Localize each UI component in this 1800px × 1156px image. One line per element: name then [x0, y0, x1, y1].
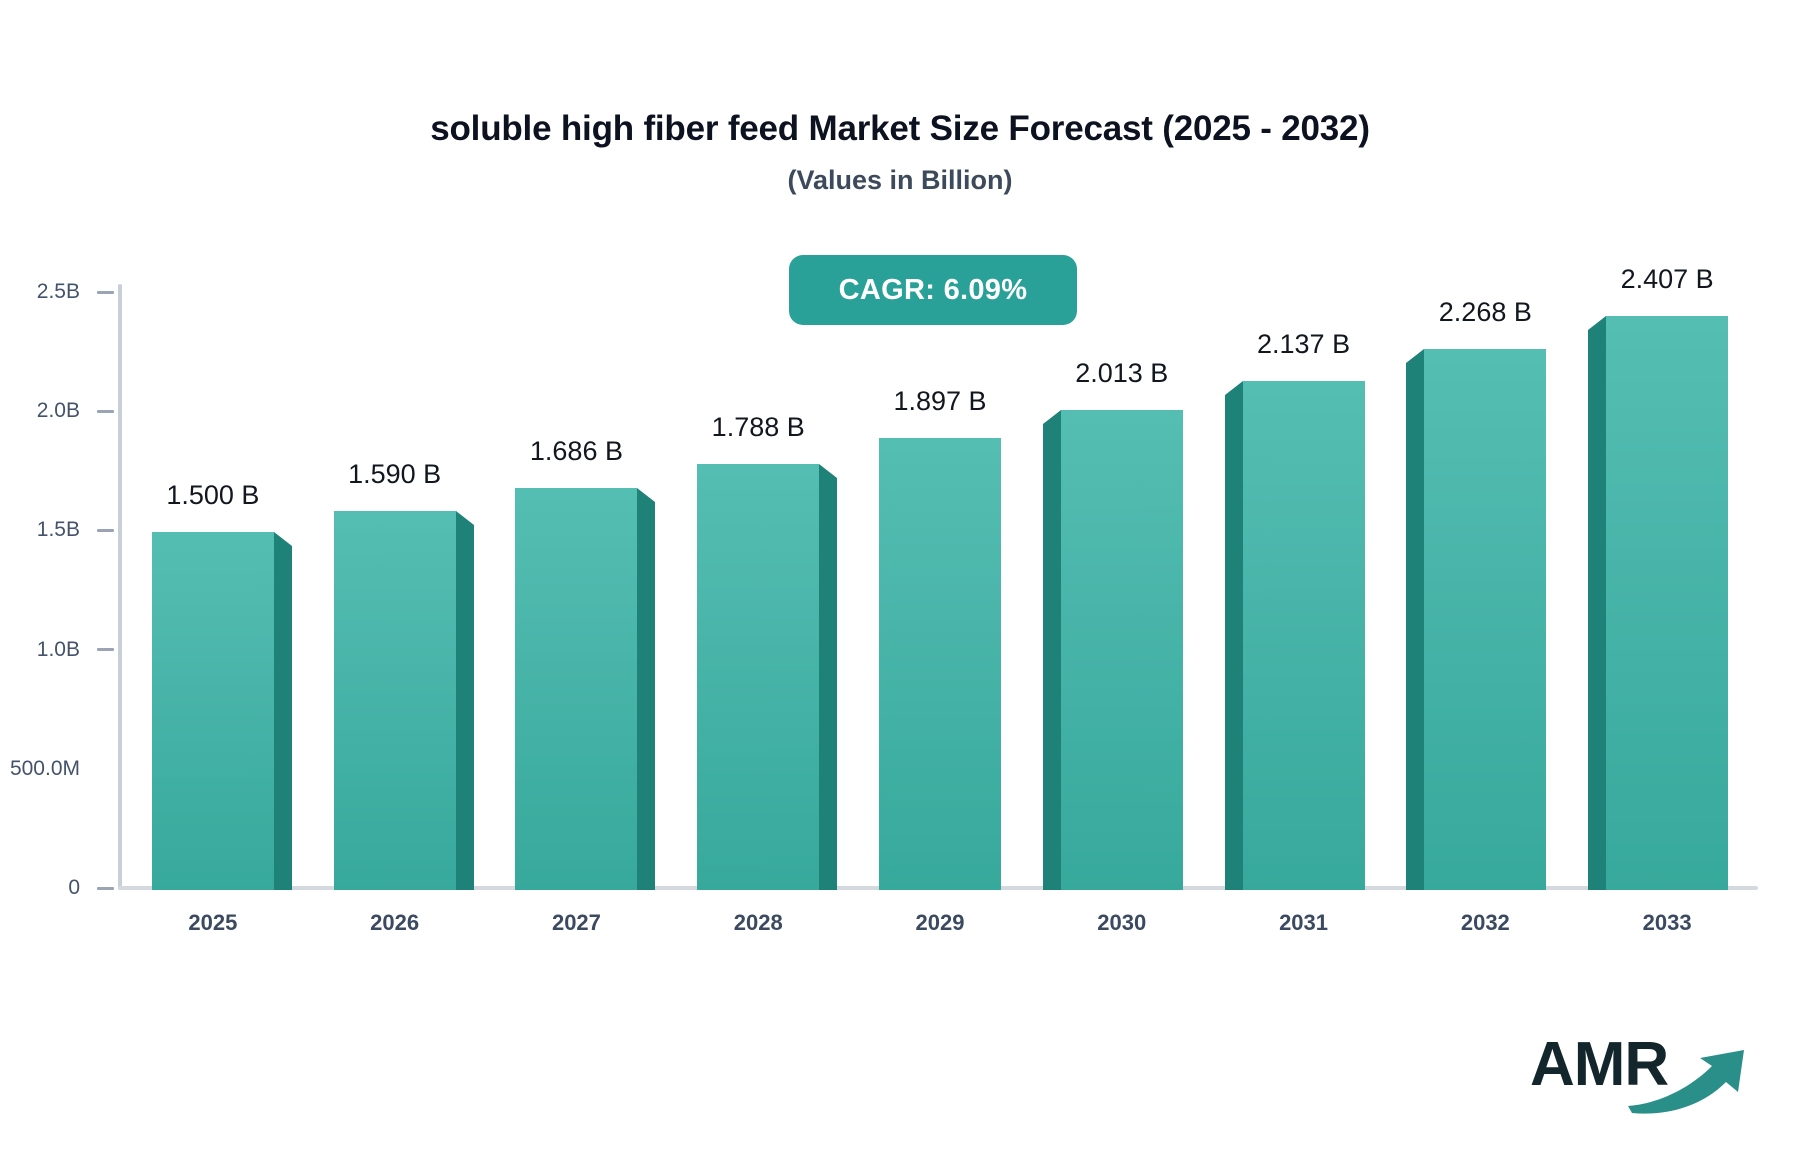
bar-item[interactable]: [879, 438, 1001, 890]
bar-value-label: 2.407 B: [1557, 264, 1777, 295]
bar-item[interactable]: [334, 511, 456, 890]
growth-arrow-icon: [1626, 1044, 1756, 1114]
bar-side-face: [1588, 330, 1606, 890]
bar-value-label: 2.268 B: [1375, 297, 1595, 328]
y-axis-tick: 1.0B: [37, 638, 114, 662]
bar-side-face: [456, 525, 474, 890]
bar-top-bevel: [1225, 381, 1243, 395]
bar-top-bevel: [637, 488, 655, 502]
y-axis-tick: 500.0M: [10, 757, 114, 781]
bar-series-group: 1.500 B20251.590 B20261.686 B20271.788 B…: [122, 0, 1758, 1156]
bar-item[interactable]: [152, 532, 274, 890]
bar-value-label: 1.897 B: [830, 386, 1050, 417]
y-axis-tick: 1.5B: [37, 518, 114, 542]
bar-top-bevel: [274, 532, 292, 546]
bar-front-face: [152, 532, 274, 890]
bar-front-face: [1243, 381, 1365, 890]
bar-value-label: 2.013 B: [1012, 358, 1232, 389]
bar-front-face: [1424, 349, 1546, 890]
y-axis-tick: 2.5B: [37, 280, 114, 304]
bar-side-face: [637, 502, 655, 890]
bar-front-face: [697, 464, 819, 890]
bar-front-face: [1061, 410, 1183, 890]
y-axis-tick-label: 1.0B: [37, 638, 80, 662]
y-axis-tick-label: 1.5B: [37, 518, 80, 542]
bar-side-face: [1043, 424, 1061, 890]
bar-side-face: [1406, 363, 1424, 890]
bar-top-bevel: [1588, 316, 1606, 330]
y-axis-tick-group: 0500.0M1.0B1.5B2.0B2.5B: [0, 0, 114, 1156]
y-axis-tick: 0: [68, 876, 114, 900]
bar-item[interactable]: [1243, 381, 1365, 890]
bar-side-face: [1225, 395, 1243, 890]
bar-item[interactable]: [1424, 349, 1546, 890]
y-axis-tick-label: 0: [68, 876, 80, 900]
bar-item[interactable]: [697, 464, 819, 890]
bar-top-bevel: [1043, 410, 1061, 424]
y-axis-tick-label: 2.0B: [37, 399, 80, 423]
bar-value-label: 2.137 B: [1194, 329, 1414, 360]
bar-front-face: [879, 438, 1001, 890]
bar-side-face: [274, 546, 292, 890]
y-axis-tick-label: 2.5B: [37, 280, 80, 304]
x-axis-category-label: 2033: [1557, 910, 1777, 936]
bar-top-bevel: [819, 464, 837, 478]
y-axis-tick: 2.0B: [37, 399, 114, 423]
bar-item[interactable]: [515, 488, 637, 890]
bar-side-face: [819, 478, 837, 890]
chart-canvas: soluble high fiber feed Market Size Fore…: [0, 0, 1800, 1156]
y-axis-tick-dash: [97, 529, 114, 532]
cagr-badge: CAGR: 6.09%: [789, 255, 1077, 325]
bar-front-face: [1606, 316, 1728, 890]
bar-item[interactable]: [1061, 410, 1183, 890]
bar-item[interactable]: [1606, 316, 1728, 890]
bar-top-bevel: [456, 511, 474, 525]
amr-logo: AMR: [1530, 1026, 1760, 1118]
bar-top-bevel: [1406, 349, 1424, 363]
y-axis-tick-label: 500.0M: [10, 757, 80, 781]
y-axis-tick-dash: [97, 291, 114, 294]
y-axis-tick-dash: [97, 648, 114, 651]
y-axis-tick-dash: [97, 887, 114, 890]
bar-front-face: [334, 511, 456, 890]
bar-front-face: [515, 488, 637, 890]
y-axis-tick-dash: [97, 410, 114, 413]
